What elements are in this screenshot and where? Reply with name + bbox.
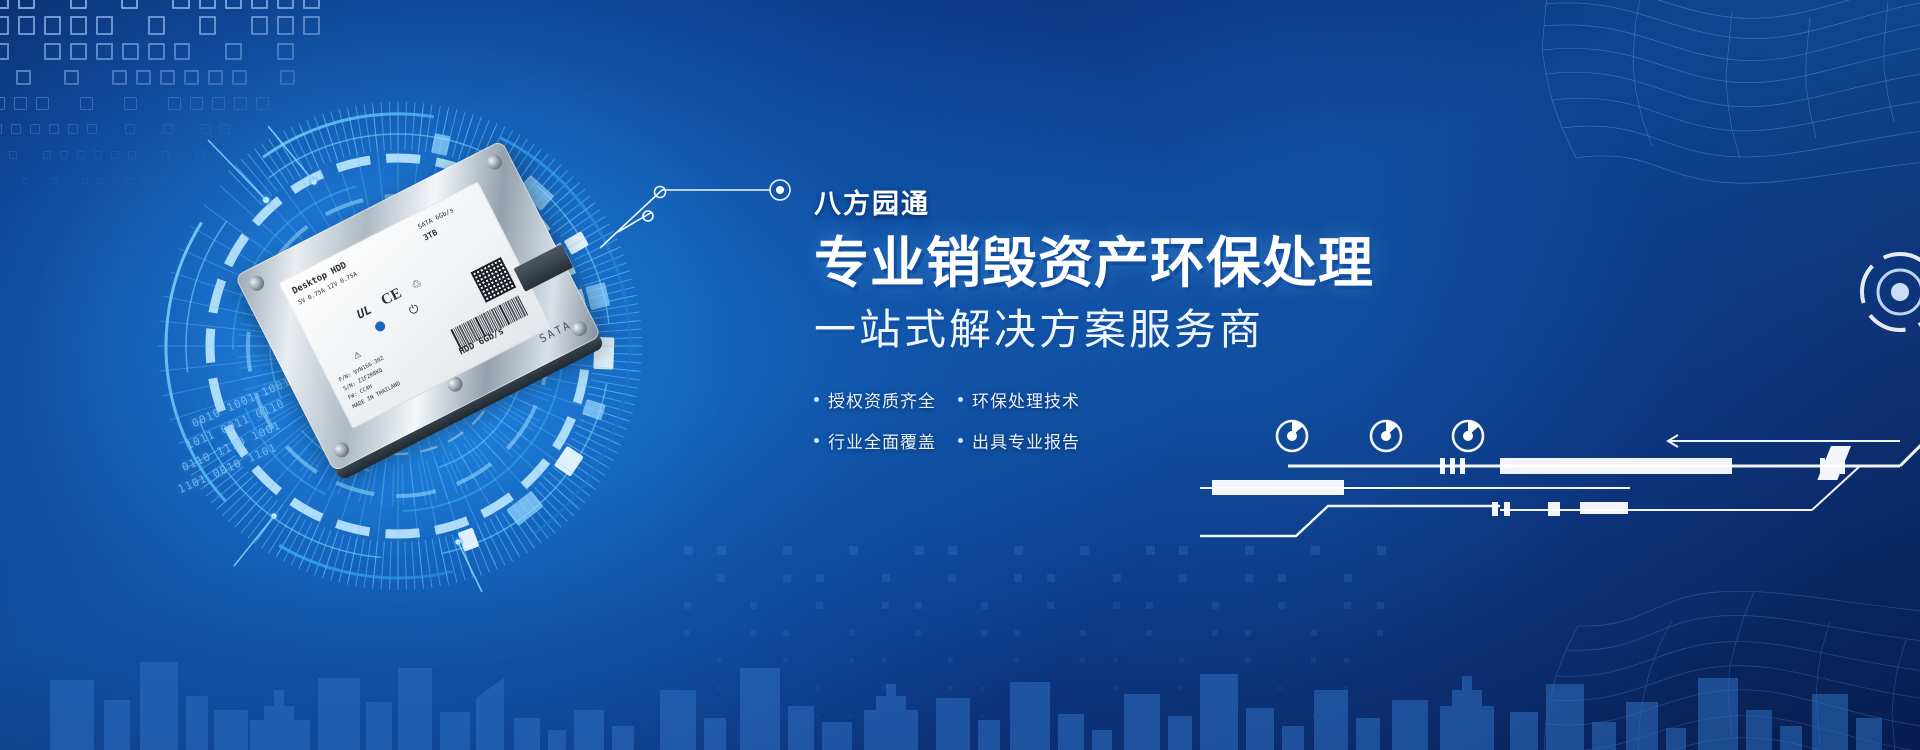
feature-item-2: 行业全面覆盖 <box>814 428 936 453</box>
hdd-screw-bl <box>331 440 351 460</box>
hdd-screw-tr <box>484 152 504 172</box>
hdd-blue-dot <box>373 320 386 333</box>
feature-item-0: 授权资质齐全 <box>814 387 936 412</box>
hdd-label-line-1: SATA 6Gb/s <box>416 206 455 231</box>
feature-label-3: 出具专业报告 <box>972 428 1080 453</box>
warning-mark-icon: ⚠ <box>350 346 363 362</box>
gear-dial-icon <box>1826 232 1920 352</box>
promo-banner: 0010 1001 1001 1011 0011 0110 0110 1110 … <box>0 0 1920 750</box>
feature-label-0: 授权资质齐全 <box>828 387 936 412</box>
feature-item-3: 出具专业报告 <box>958 428 1080 453</box>
brand-name: 八方园通 <box>814 182 1374 221</box>
sub-headline: 一站式解决方案服务商 <box>814 307 1374 353</box>
hdd-label-line-2: 3TB <box>422 228 439 243</box>
ce-mark-icon: CE <box>379 285 405 310</box>
feature-item-1: 环保处理技术 <box>958 387 1080 412</box>
wire-mesh-top-right <box>1340 0 1920 210</box>
feature-label-1: 环保处理技术 <box>972 387 1080 412</box>
pixel-square-row <box>0 64 320 90</box>
bullet-dot-icon <box>814 397 819 402</box>
feature-label-2: 行业全面覆盖 <box>828 428 936 453</box>
bullet-dot-icon <box>814 438 819 443</box>
recycle-mark-icon: ♲ <box>408 273 424 293</box>
pixel-square-row <box>0 12 320 38</box>
banner-copy-block: 八方园通 专业销毁资产环保处理 一站式解决方案服务商 授权资质齐全 环保处理技术… <box>814 182 1374 453</box>
pixel-square-row <box>0 0 320 12</box>
ul-mark-icon: UL <box>355 303 374 322</box>
headline-title: 专业销毁资产环保处理 <box>814 235 1374 293</box>
city-skyline-silhouette <box>0 550 1920 750</box>
hdd-qr-code <box>471 257 517 303</box>
callout-pointer <box>600 170 830 250</box>
pixel-square-row <box>0 38 320 64</box>
power-mark-icon: ⏻ <box>406 301 421 319</box>
hdd-screw-tl <box>247 273 267 293</box>
feature-list: 授权资质齐全 环保处理技术 行业全面覆盖 出具专业报告 <box>814 387 1374 453</box>
bullet-dot-icon <box>958 438 963 443</box>
bullet-dot-icon <box>958 397 963 402</box>
